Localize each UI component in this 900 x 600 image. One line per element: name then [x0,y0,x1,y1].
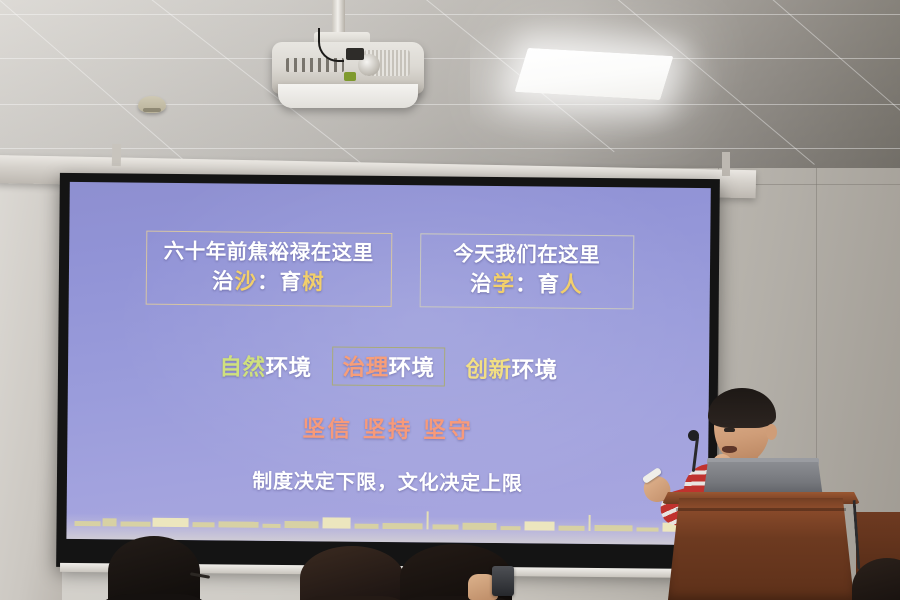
projector-lower-shell [278,84,418,108]
slide-box-right-subtitle: 治学：育人 [470,272,583,297]
slide-tagline: 制度决定下限，文化决定上限 [252,465,523,497]
subtitle-part: 沙 [234,269,257,294]
audience-shoulders [380,596,532,600]
subtitle-part: 治 [470,271,493,296]
env-highlight: 治理 [342,355,388,381]
env-item-innovation: 创新环境 [465,351,557,384]
microphone-head-icon [688,430,699,441]
slide-box-left: 六十年前焦裕禄在这里 治沙：育树 [145,231,392,308]
env-item-natural: 自然环境 [219,349,311,382]
slide-surface: 六十年前焦裕禄在这里 治沙：育树 今天我们在这里 治学：育人 自然环境 治理环境… [66,182,710,545]
wall-left-panel [0,168,62,600]
subtitle-part: 学 [492,272,515,297]
presenter-eye [724,428,735,432]
env-highlight: 创新 [465,356,511,382]
env-highlight: 自然 [219,354,265,380]
ceiling-projector [262,0,442,112]
smoke-detector-icon [138,96,166,113]
screen-bracket-left [112,144,121,166]
slide-box-row: 六十年前焦裕禄在这里 治沙：育树 今天我们在这里 治学：育人 [145,231,634,310]
presenter-ear [766,424,777,440]
audience-member-1 [108,536,200,600]
slide-box-left-title: 六十年前焦裕禄在这里 [164,240,374,265]
subtitle-part: 育 [537,272,560,297]
presenter-mouth [722,446,737,453]
podium [668,498,854,600]
slide-slogan: 坚信 坚持 坚守 [302,411,473,445]
env-rest: 环境 [388,355,434,381]
projector-connector-block [346,48,364,60]
slide-box-right: 今天我们在这里 治学：育人 [419,233,634,309]
presenter-hair [708,388,776,428]
subtitle-part: 育 [279,270,302,295]
projection-screen: 六十年前焦裕禄在这里 治沙：育树 今天我们在这里 治学：育人 自然环境 治理环境… [56,173,720,573]
env-rest: 环境 [511,357,557,383]
env-rest: 环境 [265,355,311,381]
ceiling-tile-grid [0,0,900,180]
subtitle-part: 治 [212,269,235,294]
subtitle-part: 树 [302,270,325,295]
slide-content: 六十年前焦裕禄在这里 治沙：育树 今天我们在这里 治学：育人 自然环境 治理环境… [66,182,710,545]
slide-box-left-subtitle: 治沙：育树 [212,270,325,295]
slide-environment-row: 自然环境 治理环境 创新环境 [219,346,557,388]
slide-box-right-title: 今天我们在这里 [453,243,600,267]
env-item-governance: 治理环境 [332,347,444,387]
projector-green-terminal [344,72,356,81]
lecture-hall-photo: 六十年前焦裕禄在这里 治沙：育树 今天我们在这里 治学：育人 自然环境 治理环境… [0,0,900,600]
screen-bracket-right [722,152,730,176]
smartphone-camera[interactable] [492,566,514,596]
subtitle-part: ： [257,269,280,294]
subtitle-part: 人 [560,272,583,297]
led-panel-light [515,48,674,100]
podium-edge [676,508,846,511]
subtitle-part: ： [515,272,538,297]
ceiling [0,0,900,180]
